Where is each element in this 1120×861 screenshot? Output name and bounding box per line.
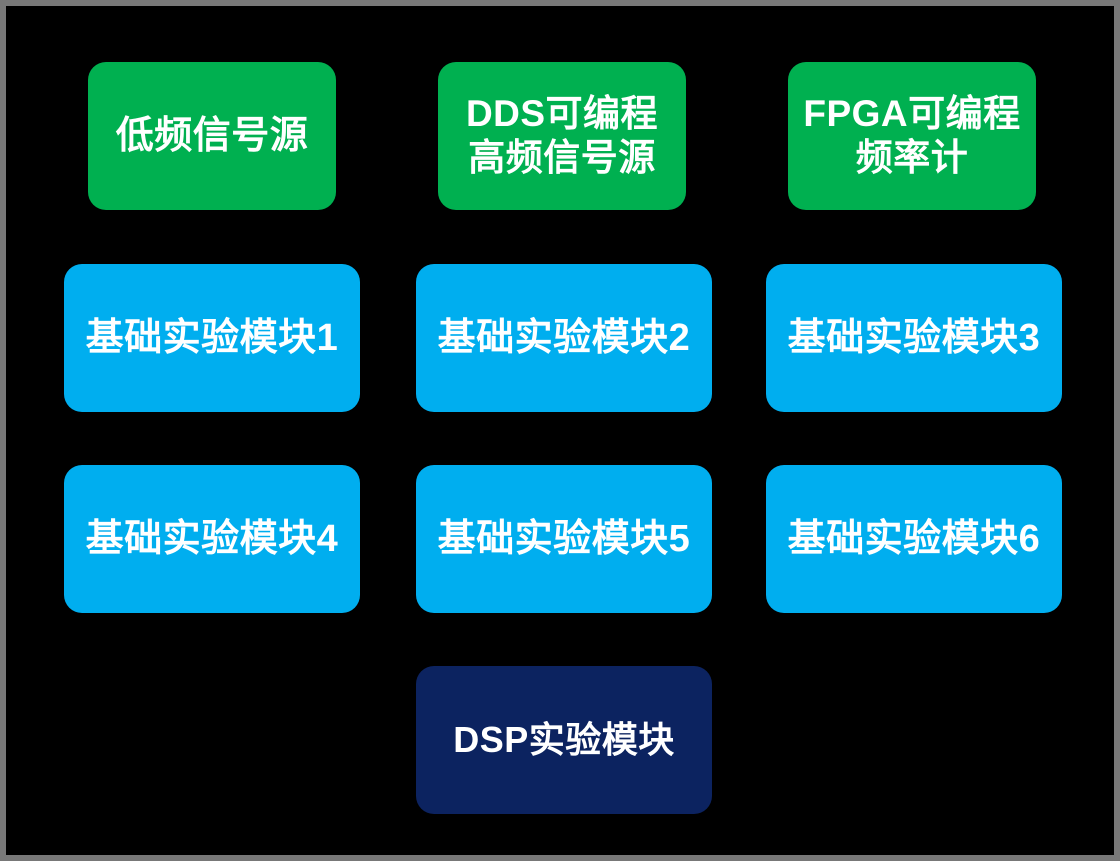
node-basic-experiment-module-5[interactable]: 基础实验模块5 [416, 465, 712, 613]
node-label: 基础实验模块3 [782, 316, 1047, 361]
node-label: FPGA可编程 频率计 [797, 92, 1026, 179]
node-dsp-experiment-module[interactable]: DSP实验模块 [416, 666, 712, 814]
node-basic-experiment-module-4[interactable]: 基础实验模块4 [64, 465, 360, 613]
node-label: 基础实验模块5 [432, 517, 697, 562]
node-basic-experiment-module-6[interactable]: 基础实验模块6 [766, 465, 1062, 613]
node-label: DDS可编程 高频信号源 [460, 92, 664, 179]
node-basic-experiment-module-1[interactable]: 基础实验模块1 [64, 264, 360, 412]
node-dds-programmable-high-frequency-signal-source[interactable]: DDS可编程 高频信号源 [438, 62, 686, 210]
node-basic-experiment-module-3[interactable]: 基础实验模块3 [766, 264, 1062, 412]
node-low-frequency-signal-source[interactable]: 低频信号源 [88, 62, 336, 210]
node-basic-experiment-module-2[interactable]: 基础实验模块2 [416, 264, 712, 412]
diagram-canvas: 低频信号源 DDS可编程 高频信号源 FPGA可编程 频率计 基础实验模块1 基… [0, 0, 1120, 861]
node-label: 基础实验模块2 [432, 316, 697, 361]
node-label: 低频信号源 [110, 114, 315, 159]
node-fpga-programmable-frequency-counter[interactable]: FPGA可编程 频率计 [788, 62, 1036, 210]
node-label: 基础实验模块6 [782, 517, 1047, 562]
node-label: 基础实验模块1 [80, 316, 345, 361]
node-label: DSP实验模块 [447, 719, 681, 761]
node-label: 基础实验模块4 [80, 517, 345, 562]
